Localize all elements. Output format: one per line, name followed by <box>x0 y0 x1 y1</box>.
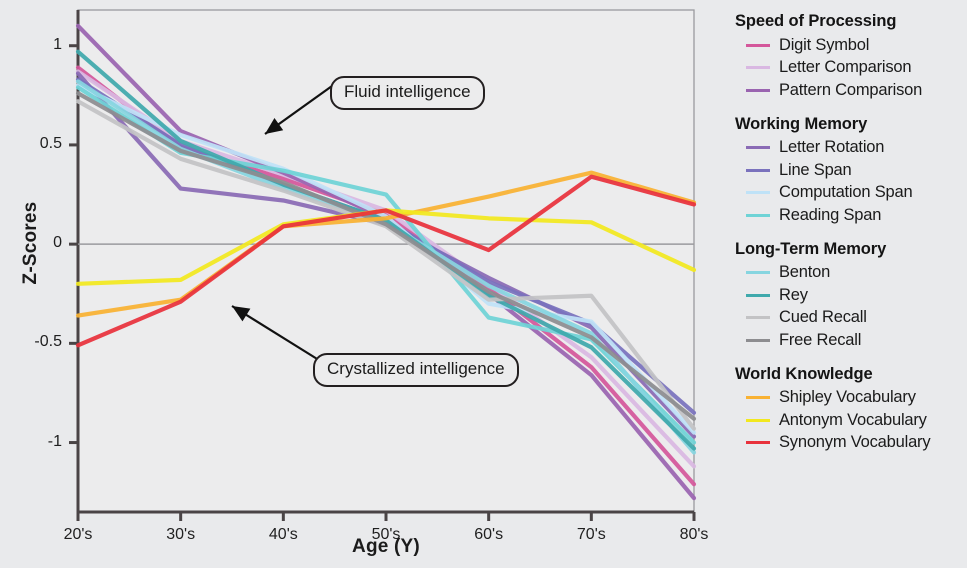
legend-item[interactable]: Reading Span <box>746 204 967 227</box>
legend-item[interactable]: Pattern Comparison <box>746 79 967 102</box>
legend-group-title: Speed of Processing <box>735 12 967 31</box>
legend-color-swatch <box>746 214 770 217</box>
legend-item[interactable]: Shipley Vocabulary <box>746 387 967 410</box>
x-tick-label: 40's <box>253 526 313 544</box>
legend-item-label: Synonym Vocabulary <box>779 433 930 452</box>
legend-item-label: Reading Span <box>779 206 881 225</box>
legend-item-label: Cued Recall <box>779 308 867 327</box>
legend-item-label: Free Recall <box>779 331 861 350</box>
legend-item-label: Rey <box>779 286 808 305</box>
legend-item[interactable]: Letter Rotation <box>746 137 967 160</box>
chart-figure: Z-Scores Age (Y) 10.50-0.5-1 20's30's40'… <box>0 0 712 568</box>
annotation-fluid-intelligence: Fluid intelligence <box>330 76 485 110</box>
legend-group-title: World Knowledge <box>735 365 967 384</box>
legend-item-label: Benton <box>779 263 830 282</box>
legend-color-swatch <box>746 339 770 342</box>
legend-item[interactable]: Rey <box>746 284 967 307</box>
legend-item-label: Shipley Vocabulary <box>779 388 916 407</box>
legend-item[interactable]: Letter Comparison <box>746 57 967 80</box>
y-tick-label: 0.5 <box>16 135 62 153</box>
legend-item-label: Antonym Vocabulary <box>779 411 927 430</box>
x-tick-label: 80's <box>664 526 724 544</box>
x-tick-label: 60's <box>459 526 519 544</box>
legend-item[interactable]: Digit Symbol <box>746 34 967 57</box>
x-tick-label: 30's <box>151 526 211 544</box>
legend-color-swatch <box>746 66 770 69</box>
legend-color-swatch <box>746 44 770 47</box>
legend-item[interactable]: Free Recall <box>746 329 967 352</box>
legend-item[interactable]: Synonym Vocabulary <box>746 432 967 455</box>
legend-group: World KnowledgeShipley VocabularyAntonym… <box>728 365 967 455</box>
y-tick-label: 0 <box>16 234 62 252</box>
legend-color-swatch <box>746 271 770 274</box>
legend-item[interactable]: Cued Recall <box>746 307 967 330</box>
legend-color-swatch <box>746 316 770 319</box>
x-tick-label: 50's <box>356 526 416 544</box>
legend-color-swatch <box>746 146 770 149</box>
legend-item-label: Digit Symbol <box>779 36 869 55</box>
legend-item-label: Line Span <box>779 161 852 180</box>
legend-color-swatch <box>746 419 770 422</box>
legend-group-title: Working Memory <box>735 115 967 134</box>
legend-item[interactable]: Line Span <box>746 159 967 182</box>
legend-item[interactable]: Benton <box>746 262 967 285</box>
legend-color-swatch <box>746 89 770 92</box>
y-tick-label: -1 <box>16 433 62 451</box>
legend-item-label: Letter Comparison <box>779 58 911 77</box>
legend-group: Speed of ProcessingDigit SymbolLetter Co… <box>728 12 967 102</box>
legend-color-swatch <box>746 169 770 172</box>
legend-group: Long-Term MemoryBentonReyCued RecallFree… <box>728 240 967 352</box>
legend-item[interactable]: Antonym Vocabulary <box>746 409 967 432</box>
legend-color-swatch <box>746 191 770 194</box>
legend-group-title: Long-Term Memory <box>735 240 967 259</box>
legend-item[interactable]: Computation Span <box>746 182 967 205</box>
y-tick-label: 1 <box>16 36 62 54</box>
legend-color-swatch <box>746 294 770 297</box>
y-tick-label: -0.5 <box>16 333 62 351</box>
x-tick-label: 20's <box>48 526 108 544</box>
legend-item-label: Letter Rotation <box>779 138 884 157</box>
x-tick-label: 70's <box>561 526 621 544</box>
legend-color-swatch <box>746 441 770 444</box>
legend-item-label: Pattern Comparison <box>779 81 922 100</box>
legend-color-swatch <box>746 396 770 399</box>
chart-page: Z-Scores Age (Y) 10.50-0.5-1 20's30's40'… <box>0 0 967 568</box>
legend: Speed of ProcessingDigit SymbolLetter Co… <box>728 0 967 568</box>
annotation-crystallized-intelligence: Crystallized intelligence <box>313 353 519 387</box>
legend-group: Working MemoryLetter RotationLine SpanCo… <box>728 115 967 227</box>
legend-item-label: Computation Span <box>779 183 912 202</box>
